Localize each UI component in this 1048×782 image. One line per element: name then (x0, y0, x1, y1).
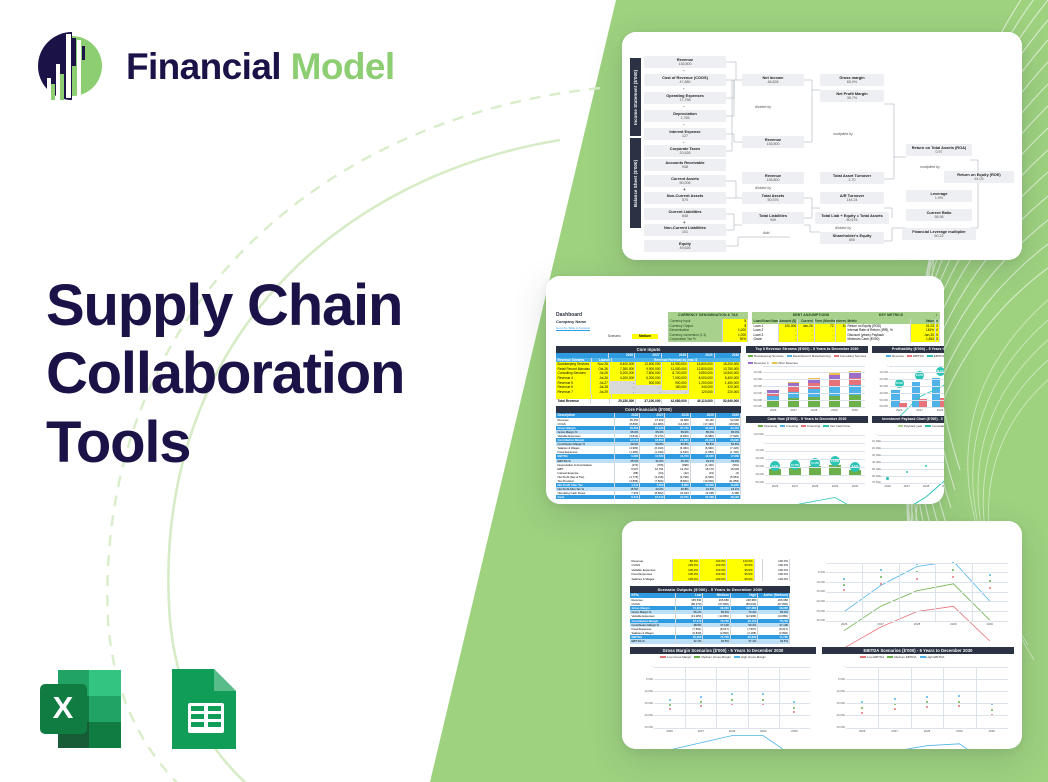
data-point (762, 699, 764, 701)
x-axis-tick-label: 2027 (790, 408, 796, 412)
chart-eb-title: EBITDA Scenarios ($'000) - 5 Years to De… (822, 647, 1014, 654)
chart-rev-title: Top 5 Revenue Streams ($'000) - 5 Years … (746, 346, 868, 353)
data-point (880, 569, 882, 571)
node-s3-0: Gross margin 65.0% (820, 74, 884, 86)
data-point (669, 704, 671, 706)
operator-multiplied-1: multiplied by (833, 132, 853, 136)
x-axis-tick-label: 2027 (877, 622, 883, 626)
x-axis-tick-label: 2028 (914, 622, 920, 626)
y-axis-tick-label: 5,000 (630, 677, 653, 681)
data-point (991, 709, 993, 711)
chart-cf-plot: Operating Investing Financing Net Cash F… (746, 423, 868, 493)
title-line-3: Tools (46, 409, 476, 477)
node-s5-roe: Return on Equity (ROE) 61.03 (944, 171, 1014, 183)
bar-segment (829, 387, 840, 396)
brand-logo: Financial Model (36, 30, 395, 102)
y-axis-tick-label: 10,000 (872, 370, 888, 374)
x-axis-tick-label: 2029 (760, 729, 766, 733)
table-row: EBITDA %32.1%32.5%37.1%32.5% (630, 639, 790, 643)
y-axis-tick-label: 10,000 (746, 370, 762, 374)
x-axis-tick-label: 2026 (896, 408, 902, 412)
table-core-inputs: Core Inputs 20262027202820292030 Revenue… (556, 346, 741, 404)
node-s3-1: Net Profit Margin 35.7% (820, 90, 884, 102)
y-axis-tick-label: 5,000 (802, 570, 825, 574)
x-axis-tick-label: 2030 (989, 729, 995, 733)
y-axis-tick-label: 25,000 (630, 725, 653, 729)
y-axis-tick-label: 5,000 (822, 677, 845, 681)
x-axis-tick-label: 2026 (772, 484, 778, 488)
x-axis-tick-label: 2029 (831, 408, 837, 412)
data-point (700, 696, 702, 698)
chart-pb-legend: Payback year Cumulative Cash Generated (… (898, 424, 944, 428)
panel-km-title: KEY METRICS (846, 312, 936, 319)
y-axis-tick-label: 70,000 (872, 480, 877, 484)
y-axis-tick-label: 40,000 (872, 391, 888, 395)
chart-cash-flow: Cash flow ($'000) - 5 Years to December … (746, 416, 868, 493)
data-point (906, 471, 908, 473)
operator-divided-1: divided by (755, 105, 771, 109)
data-point (843, 584, 845, 586)
data-point (861, 707, 863, 709)
chart-prof-legend: Revenue EBITDA EBITDA % (886, 354, 944, 358)
y-axis-tick-label: 60,000 (872, 474, 877, 478)
bar-segment (849, 395, 860, 407)
logo-word-accent: Model (291, 46, 395, 87)
y-axis-tick-label: - (746, 363, 762, 367)
chart-payback: Investment Payback Chart ($'000) - 5 Yea… (872, 416, 944, 493)
y-axis-tick-label: (10,000) (746, 432, 764, 436)
scenario-screenshot[interactable]: Revenue80.0%100.0%120.0%100.0%COGS105.0%… (622, 521, 1022, 749)
scen-table-title: Scenario Outputs ($'000) - 5 Years to De… (630, 586, 790, 593)
x-axis-tick-label: 2028 (811, 408, 817, 412)
bar-segment (767, 396, 778, 401)
node-s2-3: Total Assets 50,576 (742, 192, 804, 204)
x-axis-tick-label: 2029 (942, 484, 944, 488)
data-point (880, 576, 882, 578)
y-axis-tick-label: 20,000 (822, 713, 845, 717)
y-axis-tick-label: - (746, 440, 764, 444)
y-axis-tick-label: 25,000 (822, 725, 845, 729)
x-axis-tick-label: 2026 (770, 408, 776, 412)
node-s4-roa: Return on Total Assets (ROA) 0.97 (906, 144, 972, 156)
y-axis-tick-label: 10,000 (630, 689, 653, 693)
x-axis-tick-label: 2028 (937, 408, 943, 412)
x-axis-tick-label: 2026 (841, 622, 847, 626)
chart-gm-legend: Low Gross Margin Medium Gross Margin Hig… (660, 655, 766, 659)
y-axis-tick-label: 10,000 (802, 580, 825, 584)
scenario-sheet: Revenue80.0%100.0%120.0%100.0%COGS105.0%… (622, 521, 1022, 749)
y-axis-tick-label: 15,000 (802, 589, 825, 593)
x-axis-tick-label: 2028 (924, 729, 930, 733)
y-axis-tick-label: 10,000 (822, 689, 845, 693)
data-point (731, 693, 733, 695)
y-axis-tick-label: 30,000 (802, 618, 825, 622)
title-line-1: Supply Chain (46, 272, 476, 340)
chart-revenue-streams: Top 5 Revenue Streams ($'000) - 5 Years … (746, 346, 868, 416)
y-axis-tick-label: 50,000 (872, 398, 888, 402)
y-axis-tick-label: 30,000 (872, 453, 877, 457)
x-axis-tick-label: 2027 (698, 729, 704, 733)
table-scenario-inputs: Revenue80.0%100.0%120.0%100.0%COGS105.0%… (630, 559, 790, 581)
table-row: Cash6,44416,31024,79137,09848,192 (556, 495, 741, 499)
y-axis-tick-label: 10,000 (746, 448, 764, 452)
chart-prof-title: Profitability ($'000) - 5 Years to Decem… (872, 346, 944, 353)
chart-cf-title: Cash flow ($'000) - 5 Years to December … (746, 416, 868, 423)
node-s2-4: Total Liabilities 949 (742, 212, 804, 224)
operator-add: Add (763, 231, 769, 235)
x-axis-tick-label: 2027 (792, 484, 798, 488)
chart-eb-legend: Low EBITDA Medium EBITDA High EBITDA (860, 655, 944, 659)
node-s3-4: Total Liab + Equity = Total Assets 50,57… (815, 212, 889, 224)
data-point (861, 712, 863, 714)
node-s3-5: Shareholder's Equity 800 (820, 232, 884, 244)
table-scenario-outputs: Scenario Outputs ($'000) - 5 Years to De… (630, 586, 790, 644)
chart-pb-title: Investment Payback Chart ($'000) - 5 Yea… (872, 416, 944, 423)
y-axis-tick-label: 20,000 (872, 446, 877, 450)
y-axis-tick-label: 20,000 (872, 377, 888, 381)
chart-gm-title: Gross Margin Scenarios ($'000) - 5 Years… (630, 647, 816, 654)
svg-text:X: X (53, 690, 74, 725)
chart-rev-legend: Bookkeeping Services Retail Record Manuf… (748, 354, 868, 365)
chart-cf-legend: Operating Investing Financing Net Cash F… (758, 424, 850, 428)
x-axis-tick-label: 2030 (987, 622, 993, 626)
y-axis-tick-label: 60,000 (872, 404, 888, 408)
chart-rev-plot: Bookkeeping Services Retail Record Manuf… (746, 353, 868, 416)
x-axis-tick-label: 2029 (832, 484, 838, 488)
x-axis-tick-label: 2029 (950, 622, 956, 626)
x-axis-tick-label: 2028 (729, 729, 735, 733)
y-axis-tick-label: - (822, 664, 845, 668)
y-axis-tick-label: 15,000 (822, 701, 845, 705)
y-axis-tick-label: - (872, 432, 877, 436)
x-axis-tick-label: 2030 (852, 408, 858, 412)
page-title: Supply Chain Collaboration Tools (46, 272, 476, 477)
bar-segment (829, 373, 840, 374)
data-point (669, 699, 671, 701)
bar-segment (788, 386, 799, 391)
y-axis-tick-label: 40,000 (746, 472, 764, 476)
x-axis-tick-label: 2030 (852, 484, 858, 488)
file-format-icons: X (38, 665, 248, 753)
x-axis-tick-label: 2026 (884, 484, 890, 488)
node-s3-3: A/R Turnover 144.24 (820, 192, 884, 204)
data-point (916, 578, 918, 580)
y-axis-tick-label: 40,000 (746, 391, 762, 395)
x-axis-tick-label: 2030 (791, 729, 797, 733)
data-point (669, 708, 671, 710)
logo-wordmark: Financial Model (126, 48, 395, 85)
y-axis-tick-label: 30,000 (746, 464, 764, 468)
core-financials-title: Core Financials ($'000) (556, 406, 741, 413)
y-axis-tick-label: 20,000 (746, 377, 762, 381)
data-point (843, 578, 845, 580)
node-s4-current-ratio: Current Ratio 58.98 (906, 209, 972, 221)
x-axis-tick-label: 2027 (904, 484, 910, 488)
chart-gross-margin-scenarios: Gross Margin Scenarios ($'000) - 5 Years… (630, 647, 816, 740)
panel-key-metrics: KEY METRICS MetricValue Return on Equity… (846, 312, 936, 342)
ratio-tree-sheet: Income Statement ($'000) Balance Sheet (… (622, 32, 1022, 260)
chart-ebitda-scenarios: EBITDA Scenarios ($'000) - 5 Years to De… (822, 647, 1014, 740)
y-axis-tick-label: 10,000 (872, 439, 877, 443)
core-financials-rows: Revenue25,15037,10042,68049,11052,940COG… (556, 418, 741, 500)
data-point (894, 698, 896, 700)
chart-profitability: Profitability ($'000) - 5 Years to Decem… (872, 346, 944, 416)
data-point (989, 587, 991, 589)
x-axis-tick-label: 2028 (923, 484, 929, 488)
logo-mark-icon (36, 30, 108, 102)
y-axis-tick-label: 20,000 (802, 599, 825, 603)
y-axis-tick-label: 50,000 (746, 398, 762, 402)
node-s2-1: Revenue 136,800 (742, 136, 804, 148)
x-axis-tick-label: 2026 (859, 729, 865, 733)
y-axis-tick-label: 30,000 (746, 384, 762, 388)
operator-divided-3: divided by (835, 226, 851, 230)
y-axis-tick-label: 50,000 (872, 467, 877, 471)
bar-segment (849, 372, 860, 378)
node-s4-leverage: Leverage 1.9% (906, 190, 972, 202)
data-point (926, 696, 928, 698)
poster-canvas: Financial Model Supply Chain Collaborati… (0, 0, 1048, 782)
data-point (880, 583, 882, 585)
dashboard-overlay: KEY METRICS MetricValue Return on Equity… (546, 276, 944, 504)
node-s4-flm: Financial Leverage multiplier 60.22 (902, 228, 976, 240)
y-axis-tick-label: 25,000 (802, 609, 825, 613)
y-axis-tick-label: 20,000 (630, 713, 653, 717)
node-s3-2: Total Asset Turnover 2.70 (820, 172, 884, 184)
y-axis-tick-label: - (630, 664, 653, 668)
y-axis-tick-label: 60,000 (746, 404, 762, 408)
data-point (886, 477, 888, 479)
microsoft-excel-icon: X (38, 665, 126, 753)
bar-segment (808, 397, 819, 407)
chart-prof-plot: Revenue EBITDA EBITDA % 25.0%31.0%32.1%3… (872, 353, 944, 416)
y-axis-tick-label: 20,000 (746, 456, 764, 460)
bar-segment (829, 396, 840, 407)
table-row: Salaries & Wages105.0%100.0%95.0%100.0% (630, 577, 790, 581)
y-axis-tick-label: 50,000 (746, 480, 764, 484)
y-axis-tick-label: - (802, 560, 825, 564)
node-s2-0: Net Income 48,828 (742, 74, 804, 86)
chart-pb-plot: Payback year Cumulative Cash Generated (… (872, 423, 944, 493)
logo-word-primary: Financial (126, 46, 281, 87)
table-core-financials: Core Financials ($'000) Description20262… (556, 406, 741, 499)
title-line-2: Collaboration (46, 340, 476, 408)
x-axis-tick-label: 2027 (916, 408, 922, 412)
y-axis-tick-label: 40,000 (872, 460, 877, 464)
x-axis-tick-label: 2027 (891, 729, 897, 733)
y-axis-tick-label: 15,000 (630, 701, 653, 705)
x-axis-tick-label: 2026 (666, 729, 672, 733)
chart-revenue-scenarios: 30,00025,00020,00015,00010,0005,000-2026… (802, 559, 1014, 631)
core-inputs-title: Core Inputs (556, 346, 741, 353)
data-point (894, 708, 896, 710)
node-s2-2: Revenue 136,800 (742, 172, 804, 184)
operator-multiplied-2: multiplied by (920, 165, 940, 169)
x-axis-tick-label: 2028 (812, 484, 818, 488)
google-sheets-icon (160, 665, 248, 753)
y-axis-tick-label: 30,000 (872, 384, 888, 388)
y-axis-tick-label: - (872, 363, 888, 367)
ratio-tree-screenshot[interactable]: Income Statement ($'000) Balance Sheet (… (622, 32, 1022, 260)
operator-divided-2: divided by (755, 186, 771, 190)
x-axis-tick-label: 2029 (956, 729, 962, 733)
